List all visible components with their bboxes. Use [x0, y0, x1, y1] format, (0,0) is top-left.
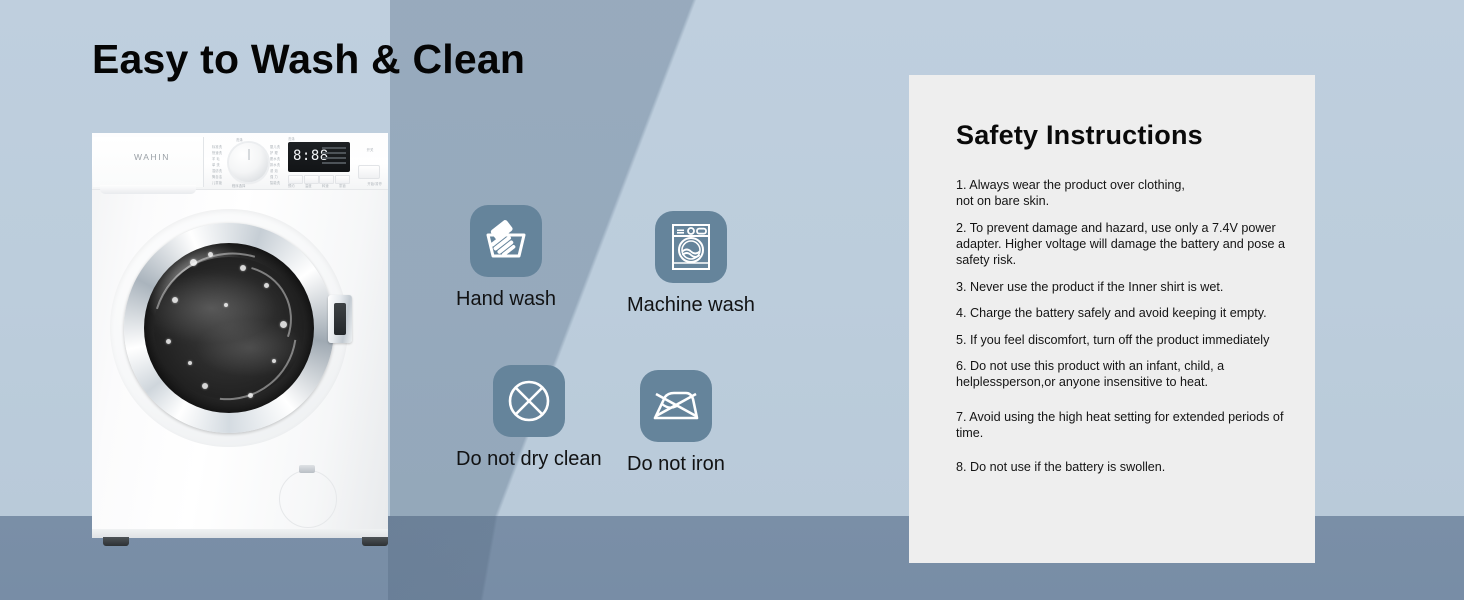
- pump-filter-tab[interactable]: [299, 465, 315, 473]
- door-handle-inset: [334, 303, 346, 335]
- care-label-machine-wash: Machine wash: [627, 294, 755, 317]
- care-item-machine-wash: Machine wash: [627, 211, 755, 317]
- brand-logo: WAHIN: [107, 152, 197, 162]
- dial-label-left-1: 标准洗: [212, 144, 222, 149]
- no-iron-tile: [640, 370, 712, 442]
- pump-filter-cover[interactable]: [279, 470, 337, 528]
- dial-label-left-2: 快速洗: [212, 150, 222, 155]
- safety-instruction-item: 7. Avoid using the high heat setting for…: [956, 409, 1296, 442]
- program-selector-dial[interactable]: [229, 143, 268, 182]
- water-droplet: [190, 259, 197, 266]
- water-droplet: [166, 339, 171, 344]
- care-instructions-group: Hand wash Machine wash: [410, 205, 770, 515]
- no-dry-clean-icon: [505, 377, 553, 425]
- no-dry-clean-tile: [493, 365, 565, 437]
- safety-instruction-item: 5. If you feel discomfort, turn off the …: [956, 332, 1296, 348]
- power-button[interactable]: [358, 165, 380, 179]
- panel-button-caption-3: 转速: [322, 183, 329, 188]
- door-chrome-ring: [124, 223, 334, 433]
- panel-button-caption-1: 预约: [288, 183, 295, 188]
- safety-panel-title: Safety Instructions: [956, 120, 1203, 151]
- dial-bottom-label: 程序选择: [232, 183, 246, 188]
- safety-instruction-item: 3. Never use the product if the Inner sh…: [956, 279, 1296, 295]
- door-handle[interactable]: [328, 295, 352, 343]
- display-caption: 洗涤: [288, 136, 295, 141]
- display-indicator-leds: [322, 147, 346, 167]
- safety-instructions-panel: Safety Instructions 1. Always wear the p…: [909, 75, 1315, 563]
- machine-door[interactable]: [110, 209, 348, 447]
- page-title: Easy to Wash & Clean: [92, 36, 525, 83]
- detergent-drawer: WAHIN: [93, 137, 204, 187]
- safety-instruction-item: 2. To prevent damage and hazard, use onl…: [956, 220, 1296, 269]
- water-droplet: [188, 361, 192, 365]
- drawer-handle: [100, 185, 196, 194]
- product-feature-banner: Easy to Wash & Clean WAHIN 洗涤 程序选择 标准洗 快…: [0, 0, 1464, 600]
- water-droplet: [264, 283, 269, 288]
- water-droplet: [280, 321, 287, 328]
- safety-instructions-list: 1. Always wear the product over clothing…: [956, 177, 1296, 486]
- hand-wash-tile: [470, 205, 542, 277]
- dial-label-left-7: 儿童锁: [212, 180, 222, 185]
- dial-label-right-5: 浸 泡: [270, 168, 278, 173]
- panel-button-caption-2: 温度: [305, 183, 312, 188]
- machine-foot-left: [103, 537, 129, 546]
- safety-instruction-item: 1. Always wear the product over clothing…: [956, 177, 1296, 210]
- water-droplet: [248, 393, 253, 398]
- dial-label-left-5: 混纺洗: [212, 168, 222, 173]
- dial-indicator-mark: [248, 149, 249, 160]
- care-label-do-not-iron: Do not iron: [627, 453, 725, 476]
- care-item-do-not-iron: Do not iron: [627, 370, 725, 476]
- care-label-do-not-dry-clean: Do not dry clean: [456, 448, 602, 471]
- power-button-label: 开关: [360, 147, 380, 152]
- dial-label-right-2: 护 理: [270, 150, 278, 155]
- dial-label-left-3: 羊 毛: [212, 156, 220, 161]
- dial-label-left-4: 单 洗: [212, 162, 220, 167]
- hand-wash-icon: [481, 216, 531, 266]
- machine-wash-icon: [668, 222, 714, 272]
- water-droplet: [172, 297, 178, 303]
- care-item-do-not-dry-clean: Do not dry clean: [456, 365, 602, 471]
- digital-display: 8:88: [288, 142, 350, 172]
- care-label-hand-wash: Hand wash: [456, 288, 556, 311]
- machine-wash-tile: [655, 211, 727, 283]
- door-glass: [144, 243, 314, 413]
- dial-label-right-1: 婴儿洗: [270, 144, 280, 149]
- dial-label-right-6: 强 力: [270, 174, 278, 179]
- dial-label-right-4: 排水洗: [270, 162, 280, 167]
- dial-top-label: 洗涤: [236, 137, 243, 142]
- program-dial-group: 洗涤 程序选择 标准洗 快速洗 羊 毛 单 洗 混纺洗 筒自洁 儿童锁 婴儿洗 …: [212, 137, 284, 189]
- water-droplet: [240, 265, 246, 271]
- water-droplet: [202, 383, 208, 389]
- water-droplet: [208, 252, 213, 257]
- water-droplet: [224, 303, 228, 307]
- no-iron-icon: [651, 384, 701, 428]
- machine-plinth: [92, 529, 388, 538]
- care-item-hand-wash: Hand wash: [456, 205, 556, 311]
- safety-instruction-item: 6. Do not use this product with an infan…: [956, 358, 1296, 391]
- water-droplet: [272, 359, 276, 363]
- control-panel: WAHIN 洗涤 程序选择 标准洗 快速洗 羊 毛 单 洗 混纺洗 筒自洁 儿童…: [92, 133, 388, 190]
- dial-label-right-7: 智能洗: [270, 180, 280, 185]
- start-pause-label: 开始/暂停: [367, 181, 382, 186]
- safety-instruction-item: 8. Do not use if the battery is swollen.: [956, 459, 1296, 475]
- dial-label-left-6: 筒自洁: [212, 174, 222, 179]
- machine-foot-right: [362, 537, 388, 546]
- washing-machine-image: WAHIN 洗涤 程序选择 标准洗 快速洗 羊 毛 单 洗 混纺洗 筒自洁 儿童…: [92, 133, 388, 544]
- dial-label-right-3: 脱水洗: [270, 156, 280, 161]
- panel-button-caption-4: 童锁: [339, 183, 346, 188]
- safety-instruction-item: 4. Charge the battery safely and avoid k…: [956, 305, 1296, 321]
